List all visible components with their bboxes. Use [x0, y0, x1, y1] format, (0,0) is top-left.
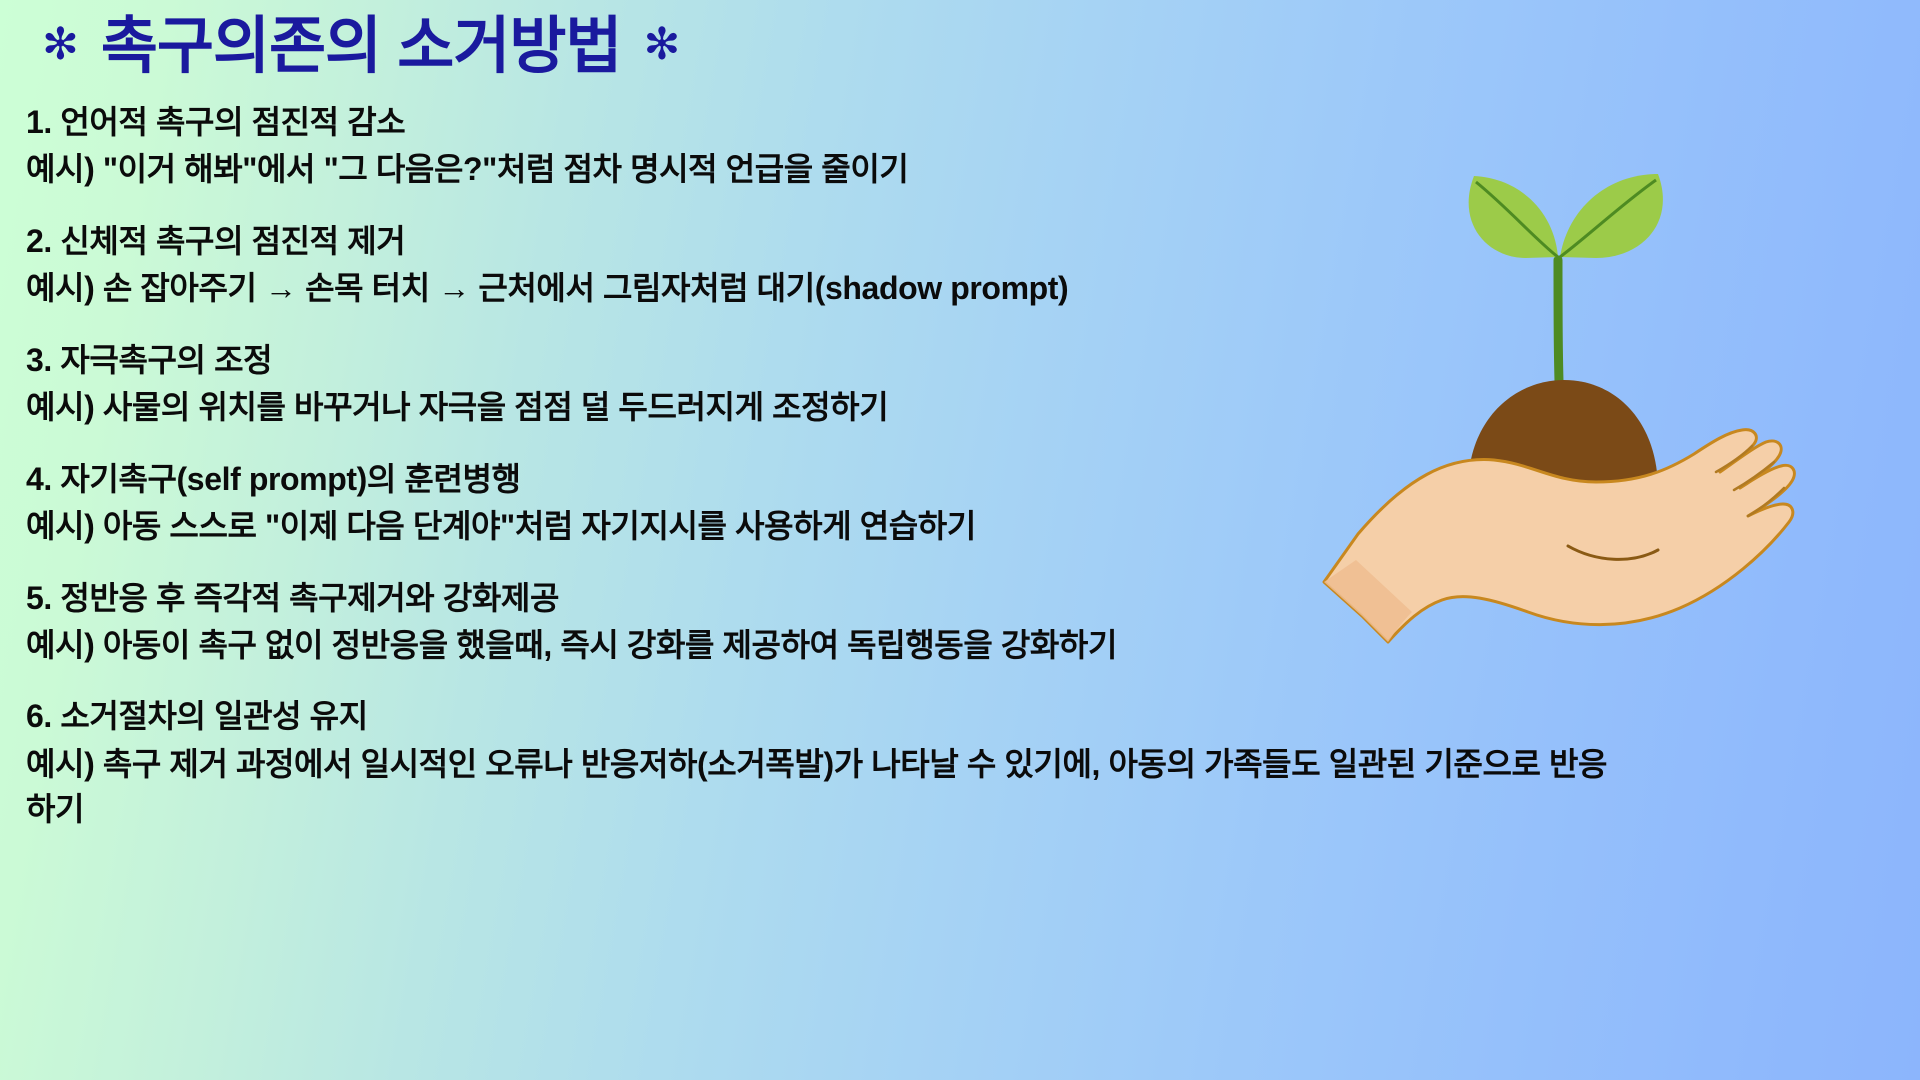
section-example: 예시) 사물의 위치를 바꾸거나 자극을 점점 덜 두드러지게 조정하기 [26, 385, 1906, 430]
section-heading: 5. 정반응 후 즉각적 촉구제거와 강화제공 [26, 576, 1906, 621]
sparkle-icon-left: ✻ [42, 23, 79, 67]
section-example: 예시) 손 잡아주기 → 손목 터치 → 근처에서 그림자처럼 대기(shado… [26, 266, 1906, 311]
section-item: 2. 신체적 촉구의 점진적 제거 예시) 손 잡아주기 → 손목 터치 → 근… [26, 219, 1906, 312]
section-heading: 6. 소거절차의 일관성 유지 [26, 694, 1906, 739]
section-heading: 4. 자기촉구(self prompt)의 훈련병행 [26, 457, 1906, 502]
section-heading: 2. 신체적 촉구의 점진적 제거 [26, 219, 1906, 264]
section-item: 4. 자기촉구(self prompt)의 훈련병행 예시) 아동 스스로 "이… [26, 457, 1906, 550]
title-text: 촉구의존의 소거방법 [101, 14, 622, 79]
sparkle-icon-right: ✻ [643, 23, 680, 67]
section-item: 5. 정반응 후 즉각적 촉구제거와 강화제공 예시) 아동이 촉구 없이 정반… [26, 576, 1906, 669]
section-item: 6. 소거절차의 일관성 유지 예시) 촉구 제거 과정에서 일시적인 오류나 … [26, 694, 1906, 832]
section-example: 예시) 아동이 촉구 없이 정반응을 했을때, 즉시 강화를 제공하여 독립행동… [26, 623, 1906, 668]
slide-title: ✻ 촉구의존의 소거방법 ✻ [42, 14, 680, 79]
section-heading: 3. 자극촉구의 조정 [26, 338, 1906, 383]
slide-canvas: ✻ 촉구의존의 소거방법 ✻ 1. 언어적 촉구의 점진적 감소 예시) "이거… [0, 0, 1920, 1080]
section-item: 3. 자극촉구의 조정 예시) 사물의 위치를 바꾸거나 자극을 점점 덜 두드… [26, 338, 1906, 431]
section-example: 예시) 촉구 제거 과정에서 일시적인 오류나 반응저하(소거폭발)가 나타날 … [26, 742, 1906, 833]
section-heading: 1. 언어적 촉구의 점진적 감소 [26, 100, 1906, 145]
section-example: 예시) "이거 해봐"에서 "그 다음은?"처럼 점차 명시적 언급을 줄이기 [26, 147, 1906, 192]
sections-list: 1. 언어적 촉구의 점진적 감소 예시) "이거 해봐"에서 "그 다음은?"… [26, 100, 1906, 859]
section-example: 예시) 아동 스스로 "이제 다음 단계야"처럼 자기지시를 사용하게 연습하기 [26, 504, 1906, 549]
section-item: 1. 언어적 촉구의 점진적 감소 예시) "이거 해봐"에서 "그 다음은?"… [26, 100, 1906, 193]
